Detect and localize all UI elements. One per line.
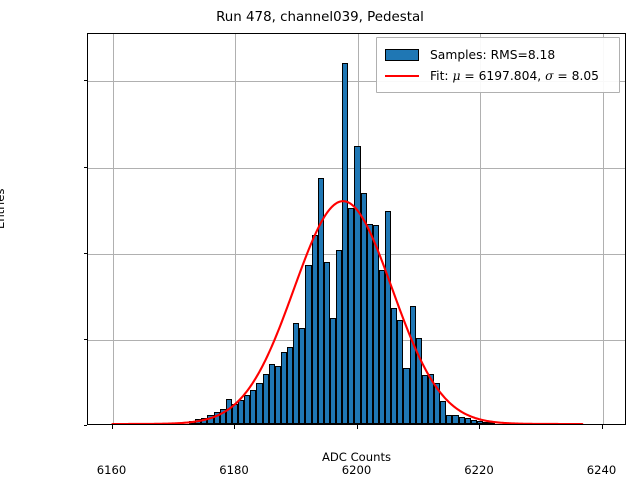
legend-swatch-fit-icon xyxy=(385,75,419,77)
x-tick-mark xyxy=(602,425,603,429)
x-tick-label: 6180 xyxy=(219,463,249,477)
legend-fit-prefix: Fit: xyxy=(430,69,452,83)
legend-fit-mu-value: = 6197.804, xyxy=(460,69,545,83)
chart-legend: Samples: RMS=8.18 Fit: μ = 6197.804, σ =… xyxy=(376,37,620,93)
x-tick-mark xyxy=(357,425,358,429)
y-tick-mark xyxy=(84,167,88,168)
x-tick-label: 6220 xyxy=(464,463,494,477)
x-tick-mark xyxy=(112,425,113,429)
x-axis-label: ADC Counts xyxy=(87,450,626,464)
legend-label-samples: Samples: RMS=8.18 xyxy=(430,48,555,62)
y-axis-label: Entries xyxy=(0,189,7,229)
y-tick-mark xyxy=(84,339,88,340)
chart-title: Run 478, channel039, Pedestal xyxy=(0,10,640,25)
legend-fit-sigma-symbol: σ xyxy=(545,69,553,83)
chart-figure: Run 478, channel039, Pedestal 6160618062… xyxy=(0,0,640,480)
x-tick-label: 6240 xyxy=(587,463,617,477)
y-tick-mark xyxy=(84,80,88,81)
x-tick-mark xyxy=(479,425,480,429)
x-tick-mark xyxy=(234,425,235,429)
legend-fit-sigma-value: = 8.05 xyxy=(554,69,600,83)
y-tick-mark xyxy=(84,253,88,254)
x-tick-label: 6200 xyxy=(342,463,372,477)
y-tick-mark xyxy=(84,425,88,426)
legend-item-fit: Fit: μ = 6197.804, σ = 8.05 xyxy=(385,65,611,86)
x-tick-label: 6160 xyxy=(97,463,127,477)
legend-item-samples: Samples: RMS=8.18 xyxy=(385,44,611,65)
legend-label-fit: Fit: μ = 6197.804, σ = 8.05 xyxy=(430,69,599,83)
legend-swatch-samples-icon xyxy=(385,49,419,61)
